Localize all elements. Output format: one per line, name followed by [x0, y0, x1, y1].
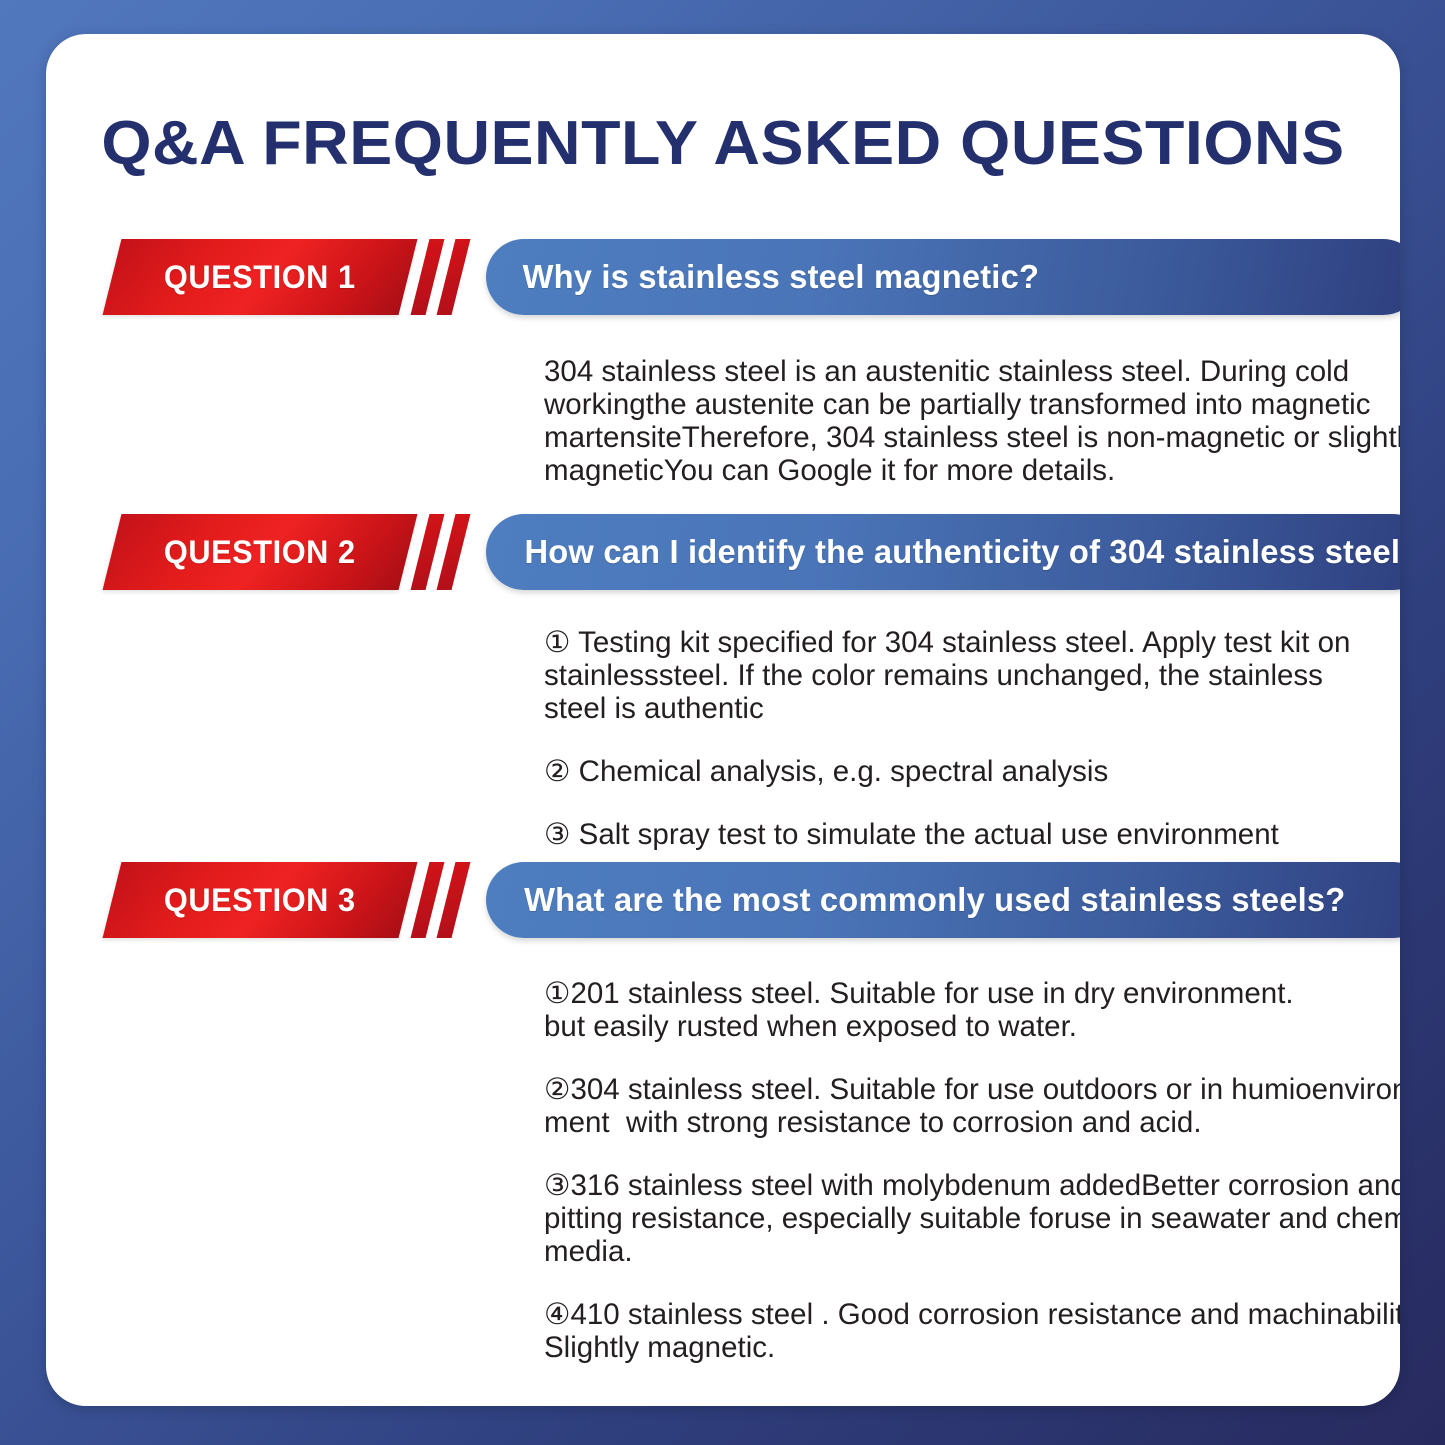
question-text-1: Why is stainless steel magnetic?: [489, 258, 1065, 296]
answer-paragraph: ① Testing kit specified for 304 stainles…: [544, 626, 1328, 725]
answer-line: media.: [544, 1235, 1328, 1268]
answer-line: pitting resistance, especially suitable …: [544, 1202, 1328, 1235]
answer-paragraph: ② Chemical analysis, e.g. spectral analy…: [544, 755, 1328, 788]
answer-line: ③316 stainless steel with molybdenum add…: [544, 1169, 1328, 1202]
answer-paragraph: ③ Salt spray test to simulate the actual…: [544, 818, 1328, 851]
answer-line: ment with strong resistance to corrosion…: [544, 1106, 1328, 1139]
question-block-3: QUESTION 3 What are the most commonly us…: [46, 862, 1400, 942]
answer-paragraph: ③316 stainless steel with molybdenum add…: [544, 1169, 1328, 1268]
question-text-2: How can I identify the authenticity of 3…: [491, 533, 1400, 571]
question-header-2: QUESTION 2 How can I identify the authen…: [46, 514, 1400, 594]
answer-line: ④410 stainless steel . Good corrosion re…: [544, 1298, 1328, 1331]
answer-line: ② Chemical analysis, e.g. spectral analy…: [544, 755, 1328, 788]
question-ribbon-label-3: QUESTION 3: [164, 882, 356, 919]
question-ribbon-label-2: QUESTION 2: [164, 534, 356, 571]
answer-line: ① Testing kit specified for 304 stainles…: [544, 626, 1328, 659]
answer-line: 304 stainless steel is an austenitic sta…: [544, 355, 1328, 388]
answer-paragraph: 304 stainless steel is an austenitic sta…: [544, 355, 1328, 487]
question-pill-2[interactable]: How can I identify the authenticity of 3…: [486, 514, 1400, 590]
answer-line: ①201 stainless steel. Suitable for use i…: [544, 977, 1328, 1010]
page-title: Q&A FREQUENTLY ASKED QUESTIONS: [46, 108, 1400, 179]
answer-body-2: ① Testing kit specified for 304 stainles…: [544, 626, 1328, 851]
question-text-3: What are the most commonly used stainles…: [490, 881, 1371, 919]
faq-card: Q&A FREQUENTLY ASKED QUESTIONS QUESTION …: [46, 34, 1400, 1406]
answer-line: Slightly magnetic.: [544, 1331, 1328, 1364]
answer-paragraph: ①201 stainless steel. Suitable for use i…: [544, 977, 1328, 1043]
question-pill-3[interactable]: What are the most commonly used stainles…: [486, 862, 1400, 938]
question-block-2: QUESTION 2 How can I identify the authen…: [46, 514, 1400, 594]
answer-line: workingthe austenite can be partially tr…: [544, 388, 1328, 421]
question-ribbon-3[interactable]: QUESTION 3: [103, 862, 418, 938]
answer-line: magneticYou can Google it for more detai…: [544, 454, 1328, 487]
question-ribbon-label-1: QUESTION 1: [164, 259, 356, 296]
answer-body-3: ①201 stainless steel. Suitable for use i…: [544, 977, 1328, 1364]
answer-line: martensiteTherefore, 304 stainless steel…: [544, 421, 1328, 454]
question-pill-1[interactable]: Why is stainless steel magnetic?: [486, 239, 1400, 315]
answer-paragraph: ②304 stainless steel. Suitable for use o…: [544, 1073, 1328, 1139]
question-header-1: QUESTION 1 Why is stainless steel magnet…: [46, 239, 1400, 319]
question-block-1: QUESTION 1 Why is stainless steel magnet…: [46, 239, 1400, 319]
answer-line: ②304 stainless steel. Suitable for use o…: [544, 1073, 1328, 1106]
answer-line: steel is authentic: [544, 692, 1328, 725]
answer-paragraph: ④410 stainless steel . Good corrosion re…: [544, 1298, 1328, 1364]
question-ribbon-1[interactable]: QUESTION 1: [103, 239, 418, 315]
answer-line: ③ Salt spray test to simulate the actual…: [544, 818, 1328, 851]
answer-body-1: 304 stainless steel is an austenitic sta…: [544, 355, 1328, 487]
question-ribbon-2[interactable]: QUESTION 2: [103, 514, 418, 590]
answer-line: stainlesssteel. If the color remains unc…: [544, 659, 1328, 692]
question-header-3: QUESTION 3 What are the most commonly us…: [46, 862, 1400, 942]
answer-line: but easily rusted when exposed to water.: [544, 1010, 1328, 1043]
